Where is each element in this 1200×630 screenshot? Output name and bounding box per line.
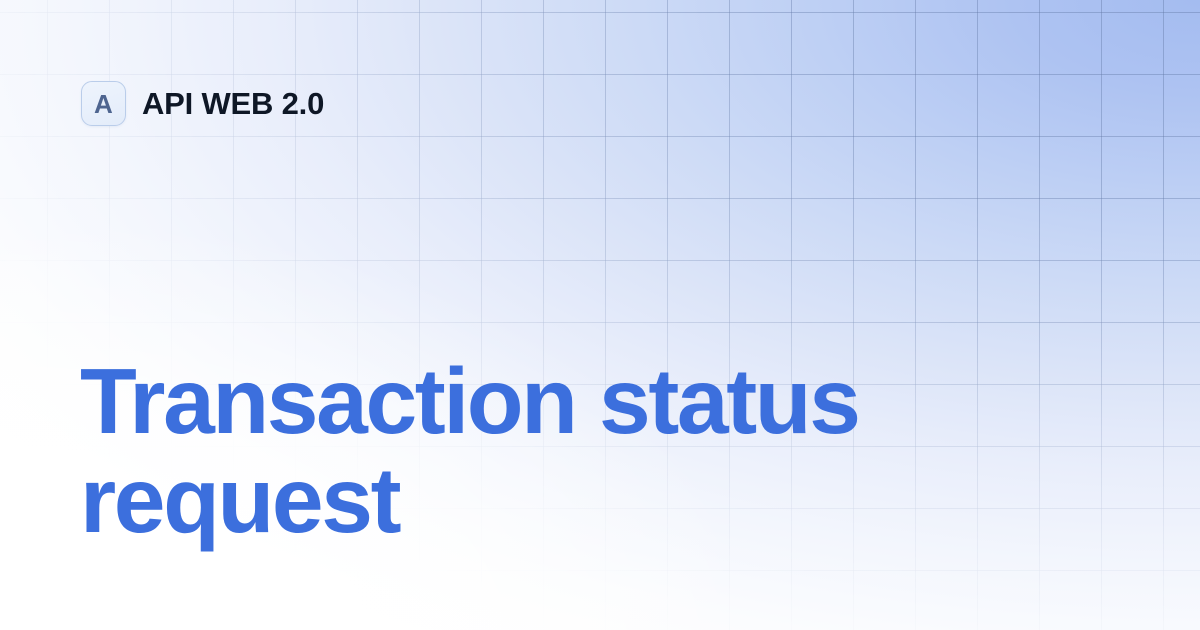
brand-name: API WEB 2.0 (142, 86, 324, 122)
brand-lockup: A API WEB 2.0 (81, 81, 324, 126)
card-content: A API WEB 2.0 Transaction status request (0, 0, 1200, 630)
og-card: A API WEB 2.0 Transaction status request (0, 0, 1200, 630)
letter-a-badge-icon: A (81, 81, 126, 126)
brand-badge-letter: A (94, 91, 113, 117)
page-title: Transaction status request (80, 352, 1080, 549)
